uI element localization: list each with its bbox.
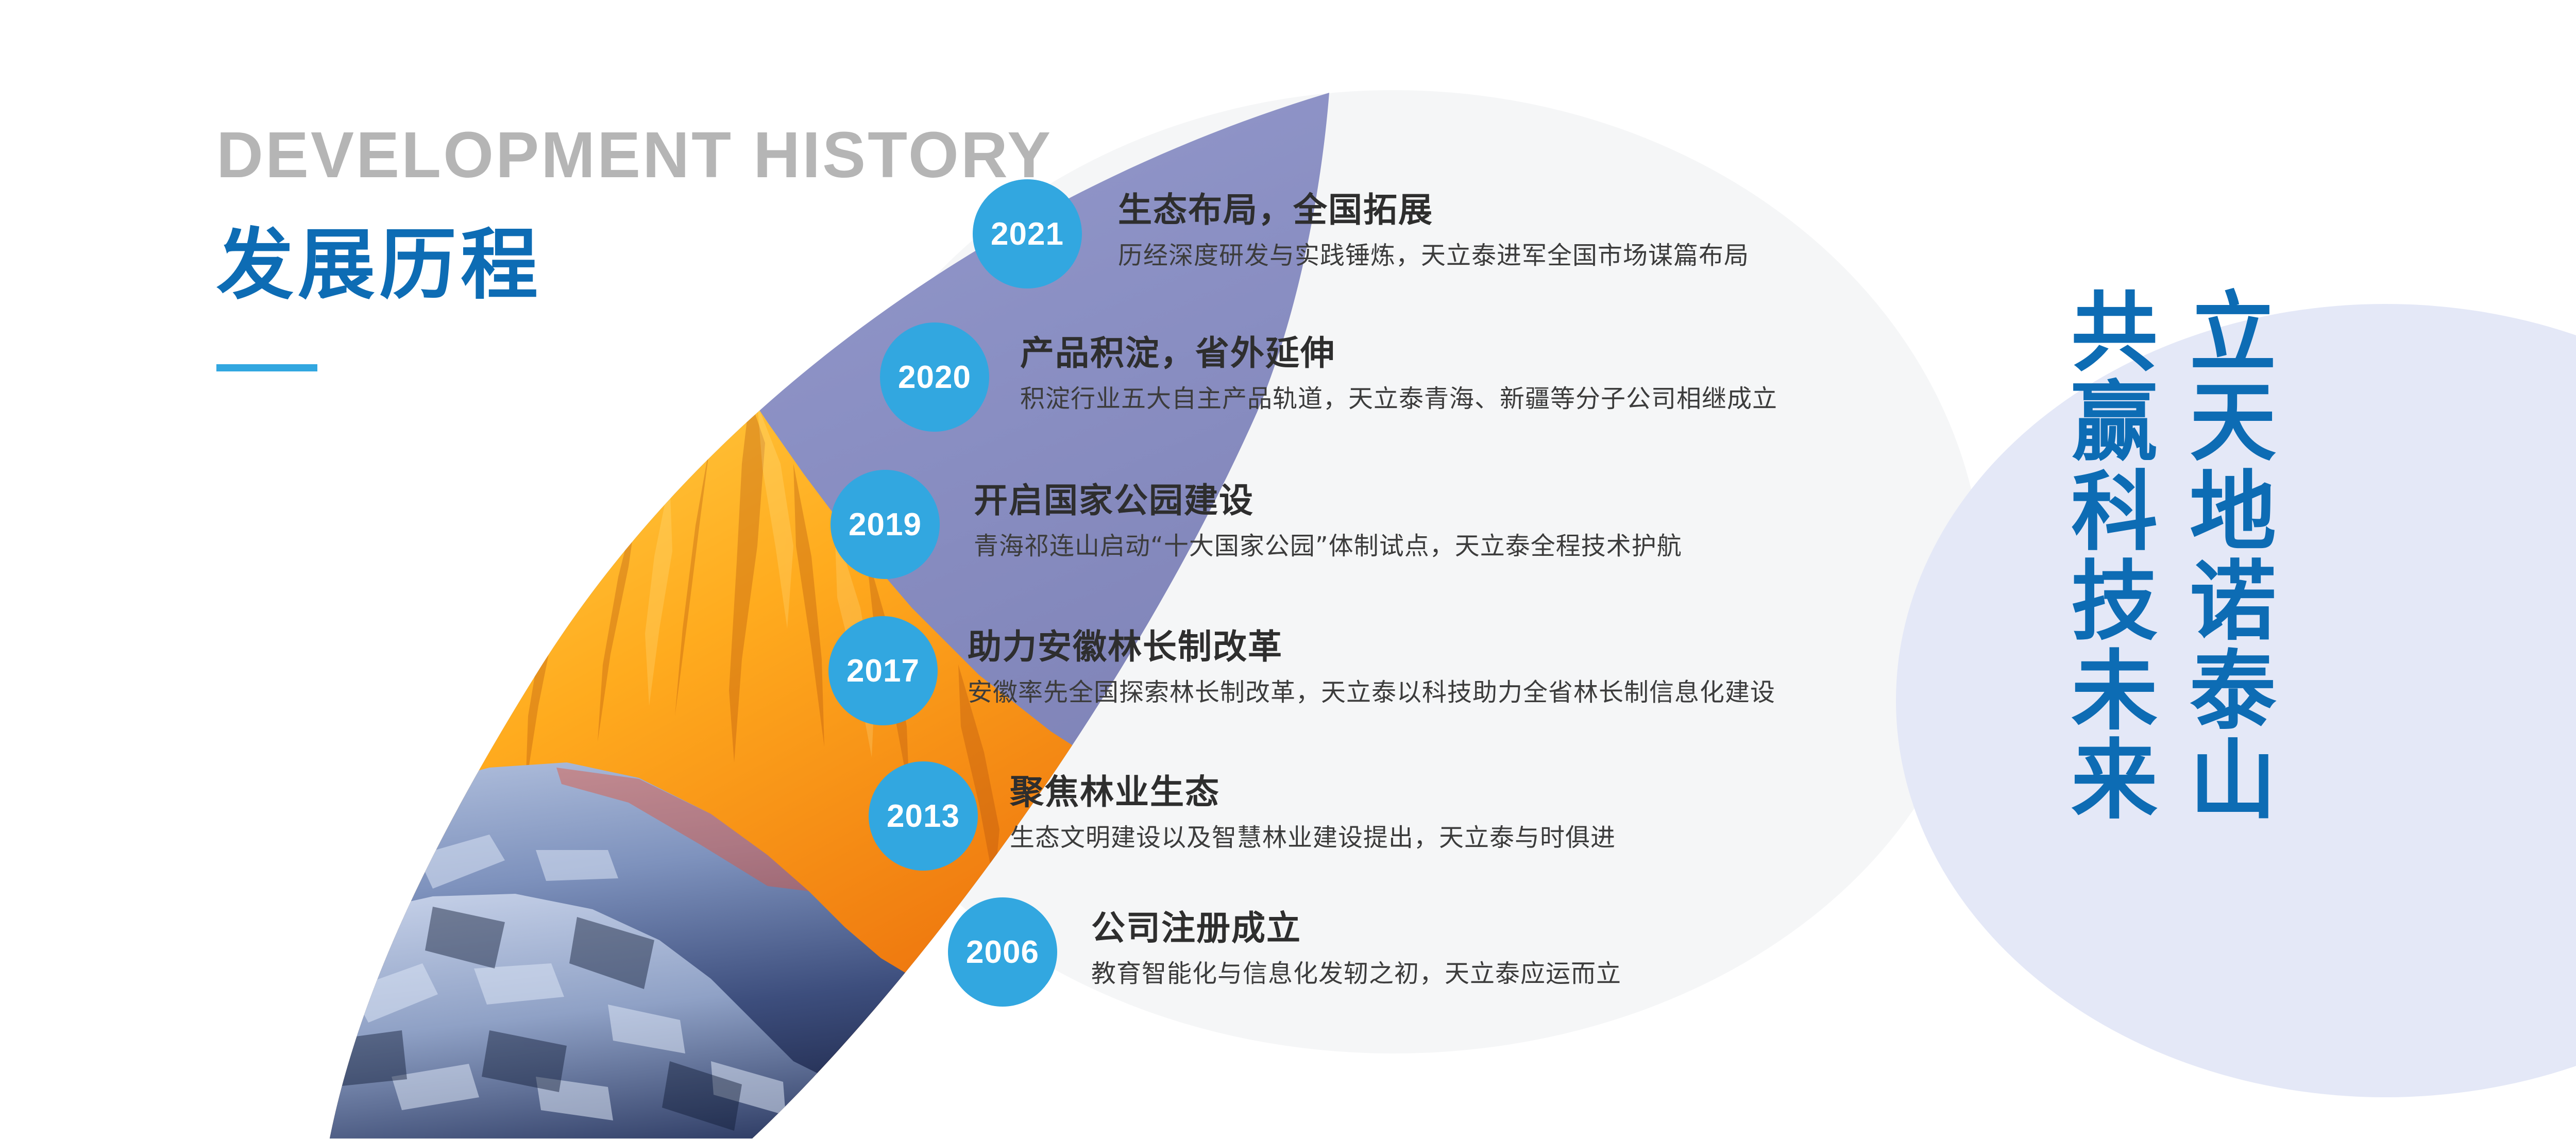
timeline-title-2019: 开启国家公园建设 xyxy=(974,481,1682,520)
timeline-text-2017: 助力安徽林长制改革 安徽率先全国探索林长制改革，天立泰以科技助力全省林长制信息化… xyxy=(968,627,1775,707)
slogan-char: 技 xyxy=(2071,557,2158,647)
timeline-text-2020: 产品积淀，省外延伸 积淀行业五大自主产品轨道，天立泰青海、新疆等分子公司相继成立 xyxy=(1020,334,1777,414)
slogan-char: 地 xyxy=(2190,468,2276,557)
timeline-title-2020: 产品积淀，省外延伸 xyxy=(1020,334,1777,373)
timeline-text-2021: 生态布局，全国拓展 历经深度研发与实践锤炼，天立泰进军全国市场谋篇布局 xyxy=(1118,191,1749,270)
slogan-char: 山 xyxy=(2190,736,2276,826)
year-badge-2019[interactable]: 2019 xyxy=(831,470,940,579)
year-badge-2006[interactable]: 2006 xyxy=(948,897,1057,1007)
vertical-slogan: 立 天 地 诺 泰 山 共 赢 科 技 未 来 xyxy=(2071,288,2276,826)
timeline-text-2013: 聚焦林业生态 生态文明建设以及智慧林业建设提出，天立泰与时俱进 xyxy=(1010,773,1616,853)
slide-canvas: DEVELOPMENT HISTORY 发展历程 2021 生态布局，全国拓展 … xyxy=(0,0,2576,1139)
slogan-char: 未 xyxy=(2071,647,2158,737)
slogan-char: 共 xyxy=(2071,288,2158,378)
timeline-desc-2006: 教育智能化与信息化发轫之初，天立泰应运而立 xyxy=(1091,959,1621,989)
timeline-title-2021: 生态布局，全国拓展 xyxy=(1118,191,1749,230)
year-badge-2017[interactable]: 2017 xyxy=(828,616,938,725)
timeline-desc-2019: 青海祁连山启动“十大国家公园”体制试点，天立泰全程技术护航 xyxy=(974,532,1682,562)
slogan-char: 科 xyxy=(2071,468,2158,557)
year-badge-2013[interactable]: 2013 xyxy=(869,761,978,871)
timeline-title-2006: 公司注册成立 xyxy=(1091,909,1621,948)
year-badge-2021[interactable]: 2021 xyxy=(973,179,1082,288)
timeline-text-2006: 公司注册成立 教育智能化与信息化发轫之初，天立泰应运而立 xyxy=(1091,909,1621,989)
slogan-char: 来 xyxy=(2071,736,2158,826)
slogan-column-left: 共 赢 科 技 未 来 xyxy=(2071,288,2158,826)
slogan-char: 诺 xyxy=(2190,557,2276,647)
slogan-char: 天 xyxy=(2190,378,2276,468)
timeline-desc-2017: 安徽率先全国探索林长制改革，天立泰以科技助力全省林长制信息化建设 xyxy=(968,678,1775,708)
timeline-desc-2021: 历经深度研发与实践锤炼，天立泰进军全国市场谋篇布局 xyxy=(1118,241,1749,271)
year-badge-2020[interactable]: 2020 xyxy=(880,322,989,432)
slogan-char: 立 xyxy=(2190,288,2276,378)
timeline-title-2017: 助力安徽林长制改革 xyxy=(968,627,1775,667)
timeline-title-2013: 聚焦林业生态 xyxy=(1010,773,1616,812)
timeline-desc-2013: 生态文明建设以及智慧林业建设提出，天立泰与时俱进 xyxy=(1010,823,1616,853)
slogan-char: 赢 xyxy=(2071,378,2158,468)
slogan-column-right: 立 天 地 诺 泰 山 xyxy=(2190,288,2276,826)
timeline-text-2019: 开启国家公园建设 青海祁连山启动“十大国家公园”体制试点，天立泰全程技术护航 xyxy=(974,481,1682,561)
slogan-char: 泰 xyxy=(2190,647,2276,737)
timeline-desc-2020: 积淀行业五大自主产品轨道，天立泰青海、新疆等分子公司相继成立 xyxy=(1020,384,1777,414)
